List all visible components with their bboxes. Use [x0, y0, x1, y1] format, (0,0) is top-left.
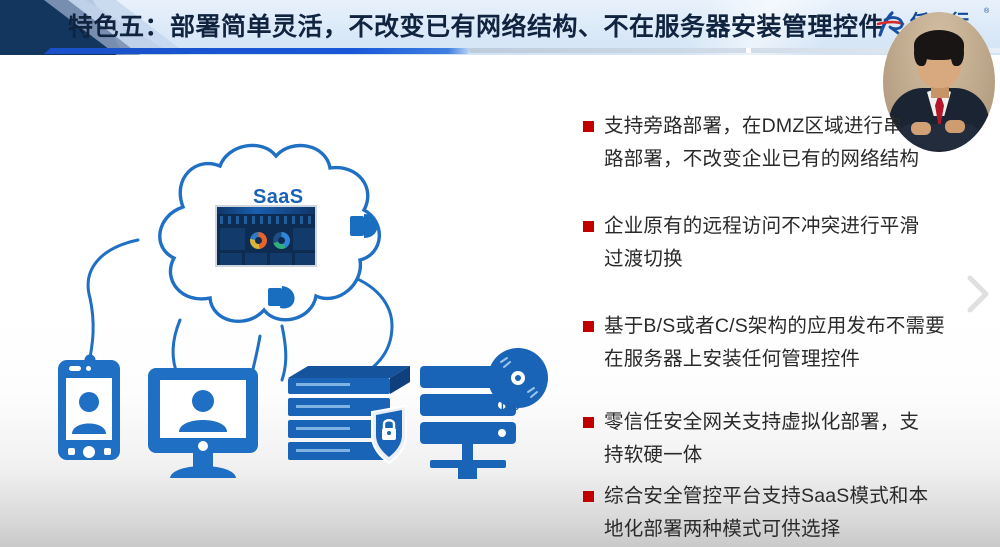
dashboard-panel-br [295, 253, 316, 267]
desktop-monitor-icon [148, 368, 258, 478]
architecture-diagram: SaaS ISO [20, 130, 565, 500]
bullet-item-2: 企业原有的远程访问不冲突进行平滑 过渡切换 [583, 210, 983, 276]
bullet-line: 在服务器上安装任何管理控件 [604, 343, 983, 376]
presentation-slide: 特色五：部署简单灵活，不改变已有网络结构、不在服务器安装管理控件 任子行 ® I… [0, 0, 1000, 547]
bullet-line: 零信任安全网关支持虚拟化部署，支 [604, 406, 983, 439]
bullet-item-4: 零信任安全网关支持虚拟化部署，支 持软硬一体 [583, 406, 983, 472]
bullet-line: 过渡切换 [604, 243, 983, 276]
bullet-list: 支持旁路部署，在DMZ区域进行串 路部署，不改变企业已有的网络结构 企业原有的远… [583, 110, 983, 547]
bullet-line: 综合安全管控平台支持SaaS模式和本 [604, 480, 983, 513]
dashboard-panel-bl [220, 253, 242, 267]
bullet-line: 地化部署两种模式可供选择 [604, 513, 983, 546]
dashboard-panel-right [293, 228, 316, 250]
secure-server-stack-icon [288, 366, 410, 463]
iso-disc-label: ISO [501, 402, 520, 413]
dashboard-panel-bm1 [245, 253, 267, 267]
avatar-hair-right [951, 40, 964, 66]
bullet-line: 路部署，不改变企业已有的网络结构 [604, 143, 983, 176]
iso-disc-icon [488, 348, 548, 408]
bullet-square-icon [583, 491, 594, 502]
bullet-square-icon [583, 121, 594, 132]
bullet-square-icon [583, 321, 594, 332]
smartphone-icon [58, 360, 120, 460]
dashboard-panel-left [220, 228, 245, 250]
bullet-item-3: 基于B/S或者C/S架构的应用发布不需要 在服务器上安装任何管理控件 [583, 310, 983, 376]
link-cloud-to-phone [88, 240, 138, 298]
bullet-item-5: 综合安全管控平台支持SaaS模式和本 地化部署两种模式可供选择 [583, 480, 983, 546]
bullet-line: 基于B/S或者C/S架构的应用发布不需要 [604, 310, 983, 343]
slide-header: 特色五：部署简单灵活，不改变已有网络结构、不在服务器安装管理控件 任子行 ® I… [0, 0, 1000, 55]
dashboard-titlebar [217, 207, 315, 214]
dashboard-donut-chart-1 [250, 232, 267, 249]
dashboard-donut-chart-2 [273, 232, 290, 249]
dashboard-panel-bm2 [270, 253, 292, 267]
bullet-square-icon [583, 221, 594, 232]
cloud-plug-right [350, 214, 378, 238]
dashboard-toolbar-icons [220, 216, 316, 224]
bullet-line: 支持旁路部署，在DMZ区域进行串 [604, 110, 983, 143]
saas-dashboard-thumbnail [215, 205, 317, 267]
slide-title: 特色五：部署简单灵活，不改变已有网络结构、不在服务器安装管理控件 [68, 7, 898, 47]
bullet-line: 持软硬一体 [604, 439, 983, 472]
bullet-item-1: 支持旁路部署，在DMZ区域进行串 路部署，不改变企业已有的网络结构 [583, 110, 983, 176]
bullet-square-icon [583, 417, 594, 428]
bullet-line: 企业原有的远程访问不冲突进行平滑 [604, 210, 983, 243]
avatar-hair-left [914, 40, 927, 66]
header-underline-blue [44, 48, 474, 54]
logo-registered-mark: ® [984, 8, 989, 15]
